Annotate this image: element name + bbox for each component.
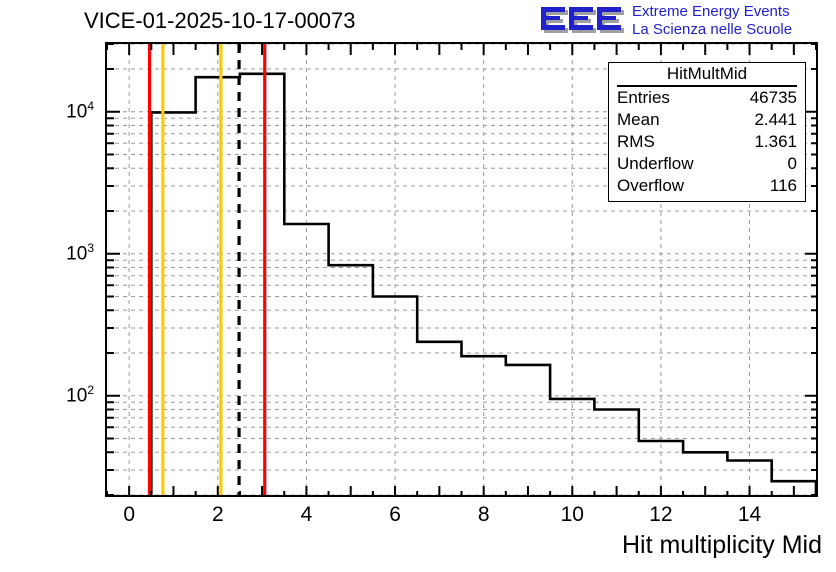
- stats-row: Mean2.441: [609, 109, 805, 131]
- stats-key: Underflow: [617, 153, 694, 175]
- stats-value: 1.361: [754, 131, 797, 153]
- x-tick-label: 4: [288, 503, 324, 527]
- logo-caption: Extreme Energy Events La Scienza nelle S…: [632, 3, 792, 39]
- stats-row: Underflow0: [609, 153, 805, 175]
- y-tick-label: 104: [48, 99, 94, 123]
- x-tick-label: 14: [732, 503, 768, 527]
- stats-key: Entries: [617, 87, 670, 109]
- x-axis-title: Hit multiplicity Mid: [622, 531, 822, 560]
- x-tick-label: 10: [554, 503, 590, 527]
- y-tick-label: 103: [48, 241, 94, 265]
- stats-rows: Entries46735Mean2.441RMS1.361Underflow0O…: [609, 87, 805, 197]
- logo-line2: La Scienza nelle Scuole: [632, 21, 792, 39]
- stats-value: 116: [770, 175, 797, 197]
- y-tick-label: 102: [48, 383, 94, 407]
- stats-key: RMS: [617, 131, 655, 153]
- stats-box: HitMultMid Entries46735Mean2.441RMS1.361…: [608, 62, 806, 202]
- x-tick-label: 8: [466, 503, 502, 527]
- stats-row: RMS1.361: [609, 131, 805, 153]
- stats-title: HitMultMid: [617, 63, 797, 87]
- stats-value: 0: [788, 153, 797, 175]
- stats-row: Entries46735: [609, 87, 805, 109]
- x-tick-label: 12: [643, 503, 679, 527]
- logo-line1: Extreme Energy Events: [632, 3, 790, 20]
- eee-mark-icon: [540, 4, 626, 38]
- stats-key: Overflow: [617, 175, 684, 197]
- stats-key: Mean: [617, 109, 660, 131]
- root-canvas: VICE-01-2025-10-17-00073 Extreme Energy …: [0, 0, 836, 572]
- x-tick-label: 2: [200, 503, 236, 527]
- stats-row: Overflow116: [609, 175, 805, 197]
- eee-logo: Extreme Energy Events La Scienza nelle S…: [540, 2, 836, 42]
- page-title: VICE-01-2025-10-17-00073: [84, 8, 356, 34]
- x-tick-label: 6: [377, 503, 413, 527]
- stats-value: 2.441: [754, 109, 797, 131]
- stats-value: 46735: [750, 87, 797, 109]
- x-tick-label: 0: [111, 503, 147, 527]
